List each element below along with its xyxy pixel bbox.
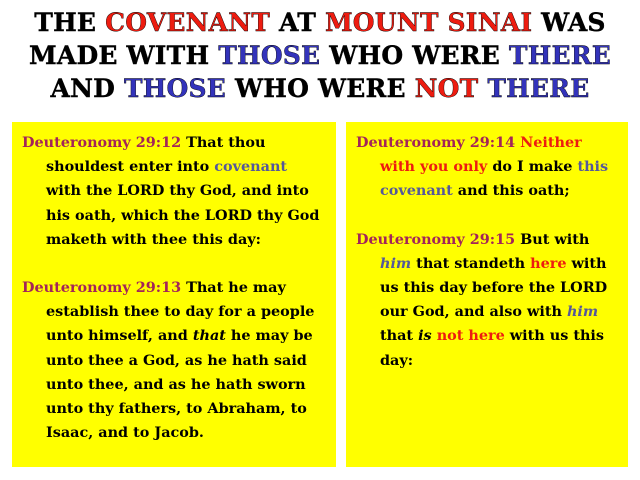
title-seg-covenant: COVENANT <box>105 8 270 37</box>
verse-text-part: do I make <box>487 158 577 175</box>
verse-highlight-covenant: covenant <box>214 158 287 175</box>
title-seg-not: NOT <box>415 74 479 103</box>
verse-deuteronomy-29-13: Deuteronomy 29:13 That he may establish … <box>22 276 326 445</box>
title-seg-those-2: THOSE <box>124 74 226 103</box>
title-seg-those-1: THOSE <box>218 41 320 70</box>
verse-highlight-not-here: not here <box>437 327 505 344</box>
left-scripture-panel: Deuteronomy 29:12 That thou shouldest en… <box>12 122 336 467</box>
slide-canvas: THE COVENANT AT MOUNT SINAI WAS MADE WIT… <box>0 0 640 480</box>
title-seg-who-were-2: WHO WERE <box>226 74 415 103</box>
title-seg-and: AND <box>51 74 124 103</box>
verse-deuteronomy-29-12: Deuteronomy 29:12 That thou shouldest en… <box>22 131 326 252</box>
verse-italic-him-1: him <box>380 255 411 272</box>
verse-reference: Deuteronomy 29:12 <box>22 134 181 151</box>
verse-reference: Deuteronomy 29:14 <box>356 134 515 151</box>
right-scripture-panel: Deuteronomy 29:14 Neither with you only … <box>346 122 628 467</box>
verse-italic-that: that <box>193 327 226 344</box>
verse-deuteronomy-29-14: Deuteronomy 29:14 Neither with you only … <box>356 131 618 204</box>
verse-text-part: that standeth <box>411 255 530 272</box>
page-title: THE COVENANT AT MOUNT SINAI WAS MADE WIT… <box>8 6 632 105</box>
verse-highlight-here: here <box>530 255 566 272</box>
title-seg-the: THE <box>34 8 105 37</box>
verse-text-part: that <box>380 327 418 344</box>
verse-text-part: he may be unto thee a God, as he hath sa… <box>46 327 313 441</box>
verse-reference: Deuteronomy 29:13 <box>22 279 181 296</box>
title-seg-who-were-1: WHO WERE <box>320 41 509 70</box>
title-seg-was: WAS <box>532 8 605 37</box>
title-seg-at: AT <box>270 8 325 37</box>
title-seg-there-1: THERE <box>509 41 611 70</box>
verse-italic-him-2: him <box>567 303 598 320</box>
title-seg-made-with: MADE WITH <box>29 41 218 70</box>
title-seg-mount-sinai: MOUNT SINAI <box>325 8 532 37</box>
title-line-3: AND THOSE WHO WERE NOT THERE <box>8 72 632 105</box>
verse-text-part: and this oath; <box>453 182 570 199</box>
verse-reference: Deuteronomy 29:15 <box>356 231 515 248</box>
verse-deuteronomy-29-15: Deuteronomy 29:15 But with him that stan… <box>356 228 618 373</box>
title-seg-there-2: THERE <box>478 74 589 103</box>
verse-italic-is: is <box>418 327 432 344</box>
verse-text-part: But with <box>515 231 589 248</box>
title-line-2: MADE WITH THOSE WHO WERE THERE <box>8 39 632 72</box>
title-line-1: THE COVENANT AT MOUNT SINAI WAS <box>8 6 632 39</box>
verse-text-part: with the LORD thy God, and into his oath… <box>46 182 319 247</box>
